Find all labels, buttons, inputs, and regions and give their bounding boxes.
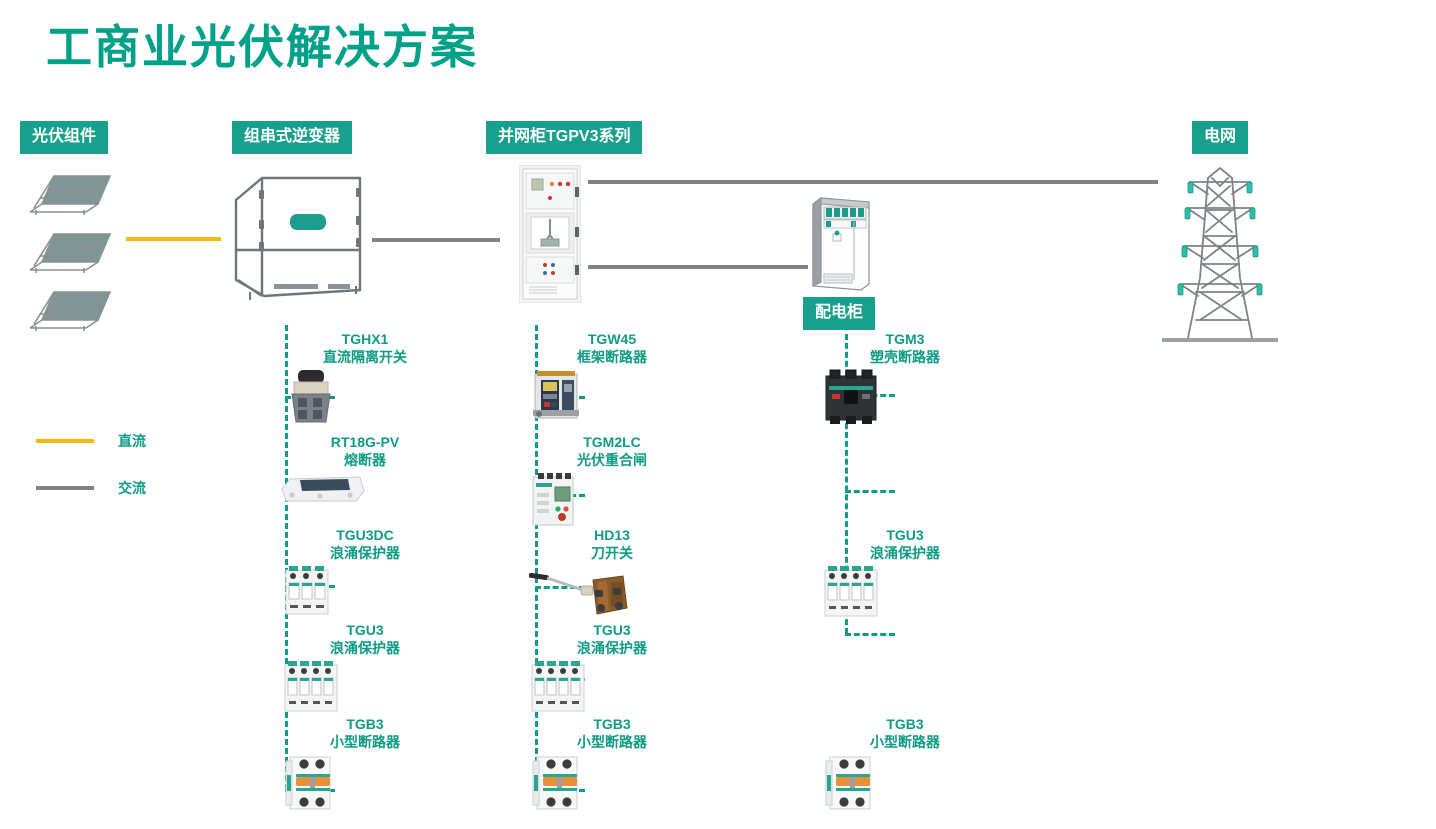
component-code: TGB3 xyxy=(527,716,697,734)
legend-swatch-dc xyxy=(36,439,94,443)
component-desc: 塑壳断路器 xyxy=(820,349,990,367)
fuse-holder-icon xyxy=(280,471,450,507)
legend-item-dc: 直流 xyxy=(36,431,146,451)
component-tgu3dc: TGU3DC 浪涌保护器 xyxy=(280,527,450,616)
legend-label-dc: 直流 xyxy=(118,431,146,451)
component-code: TGW45 xyxy=(527,331,697,349)
component-desc: 光伏重合闸 xyxy=(527,452,697,470)
component-tghx1: TGHX1 直流隔离开关 xyxy=(280,331,450,426)
badge-string-inverter: 组串式逆变器 xyxy=(232,121,352,154)
component-desc: 框架断路器 xyxy=(527,349,697,367)
component-desc: 小型断路器 xyxy=(527,734,697,752)
miniature-circuit-breaker-icon xyxy=(280,753,450,811)
component-desc: 浪涌保护器 xyxy=(527,640,697,658)
power-transmission-tower-icon xyxy=(1160,160,1280,350)
legend-item-ac: 交流 xyxy=(36,478,146,498)
component-tgw45: TGW45 框架断路器 xyxy=(527,331,697,422)
miniature-circuit-breaker-icon xyxy=(527,753,697,811)
surge-protector-dc-icon xyxy=(280,564,450,616)
dc-connector-line xyxy=(126,237,221,241)
knife-switch-icon xyxy=(527,564,697,622)
grid-connection-cabinet-icon xyxy=(519,165,581,303)
component-desc: 小型断路器 xyxy=(280,734,450,752)
component-code: TGU3 xyxy=(280,622,450,640)
legend-swatch-ac xyxy=(36,486,94,490)
component-code: RT18G-PV xyxy=(280,434,450,452)
component-tgu3-dist-column: TGU3 浪涌保护器 xyxy=(820,527,990,618)
surge-protector-icon xyxy=(527,659,697,713)
component-hd13: HD13 刀开关 xyxy=(527,527,697,622)
component-desc: 浪涌保护器 xyxy=(820,545,990,563)
molded-case-circuit-breaker-icon xyxy=(820,368,990,426)
component-desc: 浪涌保护器 xyxy=(280,640,450,658)
surge-protector-icon xyxy=(820,564,990,618)
pv-panel-icon-3 xyxy=(24,284,114,334)
component-code: TGM2LC xyxy=(527,434,697,452)
diagram-canvas: 工商业光伏解决方案 光伏组件 组串式逆变器 并网柜TGPV3系列 配电柜 电网 xyxy=(0,0,1436,829)
badge-power-grid: 电网 xyxy=(1192,121,1248,154)
component-code: TGM3 xyxy=(820,331,990,349)
component-tgm3: TGM3 塑壳断路器 xyxy=(820,331,990,426)
ac-connector-line-distribution xyxy=(588,265,808,269)
component-tgb3-grid-column: TGB3 小型断路器 xyxy=(527,716,697,811)
ac-connector-line-inverter xyxy=(372,238,500,242)
bus-branch-3-2 xyxy=(845,490,895,493)
component-tgb3-dc-column: TGB3 小型断路器 xyxy=(280,716,450,811)
component-rt18g-pv: RT18G-PV 熔断器 xyxy=(280,434,450,507)
component-code: TGB3 xyxy=(280,716,450,734)
surge-protector-icon xyxy=(280,659,450,713)
component-code: TGU3 xyxy=(527,622,697,640)
component-tgu3-grid-column: TGU3 浪涌保护器 xyxy=(527,622,697,713)
air-circuit-breaker-icon xyxy=(527,368,697,422)
component-desc: 直流隔离开关 xyxy=(280,349,450,367)
dc-isolator-switch-icon xyxy=(280,368,450,426)
badge-grid-cabinet: 并网柜TGPV3系列 xyxy=(486,121,642,154)
distribution-cabinet-icon xyxy=(807,192,873,292)
component-desc: 熔断器 xyxy=(280,452,450,470)
pv-recloser-icon xyxy=(527,471,697,527)
component-code: TGB3 xyxy=(820,716,990,734)
ac-connector-line-grid xyxy=(588,180,1158,184)
component-desc: 浪涌保护器 xyxy=(280,545,450,563)
badge-pv-modules: 光伏组件 xyxy=(20,121,108,154)
component-tgm2lc: TGM2LC 光伏重合闸 xyxy=(527,434,697,527)
component-tgu3-dc-column: TGU3 浪涌保护器 xyxy=(280,622,450,713)
component-code: TGU3 xyxy=(820,527,990,545)
pv-panel-icon-2 xyxy=(24,226,114,276)
component-code: TGHX1 xyxy=(280,331,450,349)
string-inverter-icon xyxy=(228,168,368,303)
component-code: HD13 xyxy=(527,527,697,545)
badge-distribution-cabinet: 配电柜 xyxy=(803,297,875,330)
component-tgb3-dist-column: TGB3 小型断路器 xyxy=(820,716,990,811)
miniature-circuit-breaker-icon xyxy=(820,753,990,811)
component-code: TGU3DC xyxy=(280,527,450,545)
pv-panel-icon-1 xyxy=(24,168,114,218)
legend-label-ac: 交流 xyxy=(118,478,146,498)
page-title: 工商业光伏解决方案 xyxy=(46,22,478,73)
component-desc: 刀开关 xyxy=(527,545,697,563)
component-desc: 小型断路器 xyxy=(820,734,990,752)
bus-branch-3-3 xyxy=(845,633,895,636)
